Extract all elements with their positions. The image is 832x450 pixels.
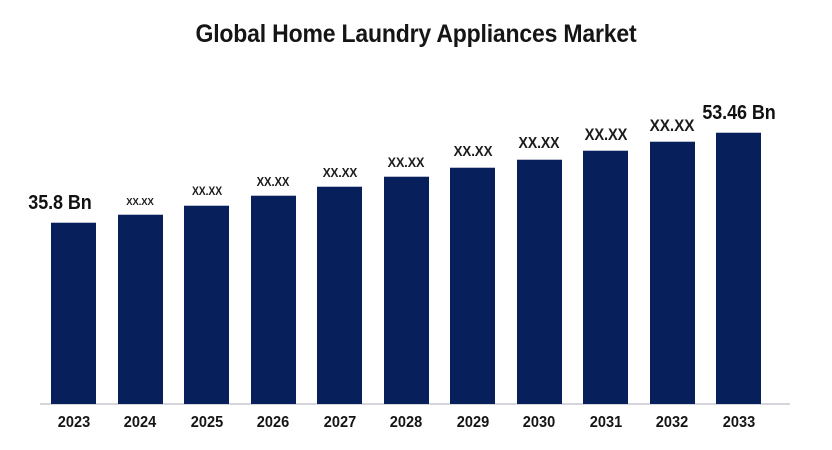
x-axis-label-2025: 2025 (173, 414, 241, 432)
bar-2029[interactable] (450, 167, 495, 404)
bar-2023[interactable] (51, 222, 96, 404)
bar-value-label-2033: 53.46 Bn (689, 102, 788, 125)
x-axis-label-2031: 2031 (572, 414, 640, 432)
x-axis-label-2028: 2028 (372, 414, 440, 432)
bar-2027[interactable] (317, 186, 362, 404)
x-axis-label-2026: 2026 (239, 414, 307, 432)
x-axis-label-2024: 2024 (106, 414, 174, 432)
x-axis-label-2030: 2030 (505, 414, 573, 432)
bar-2031[interactable] (583, 150, 628, 404)
x-axis-label-2023: 2023 (40, 414, 108, 432)
bar-2025[interactable] (184, 205, 229, 404)
x-axis-label-2033: 2033 (705, 414, 773, 432)
x-axis-label-2029: 2029 (439, 414, 507, 432)
bar-2030[interactable] (517, 159, 562, 404)
bar-2024[interactable] (118, 214, 163, 404)
bar-2032[interactable] (650, 141, 695, 404)
x-axis-label-2027: 2027 (306, 414, 374, 432)
bar-2033[interactable] (716, 132, 761, 404)
plot-area: 35.8 Bn2023XX.XX2024XX.XX2025XX.XX2026XX… (0, 0, 832, 450)
x-axis-label-2032: 2032 (638, 414, 706, 432)
bar-2028[interactable] (384, 176, 429, 404)
bar-2026[interactable] (251, 195, 296, 404)
chart-container: Global Home Laundry Appliances Market 35… (0, 0, 832, 450)
